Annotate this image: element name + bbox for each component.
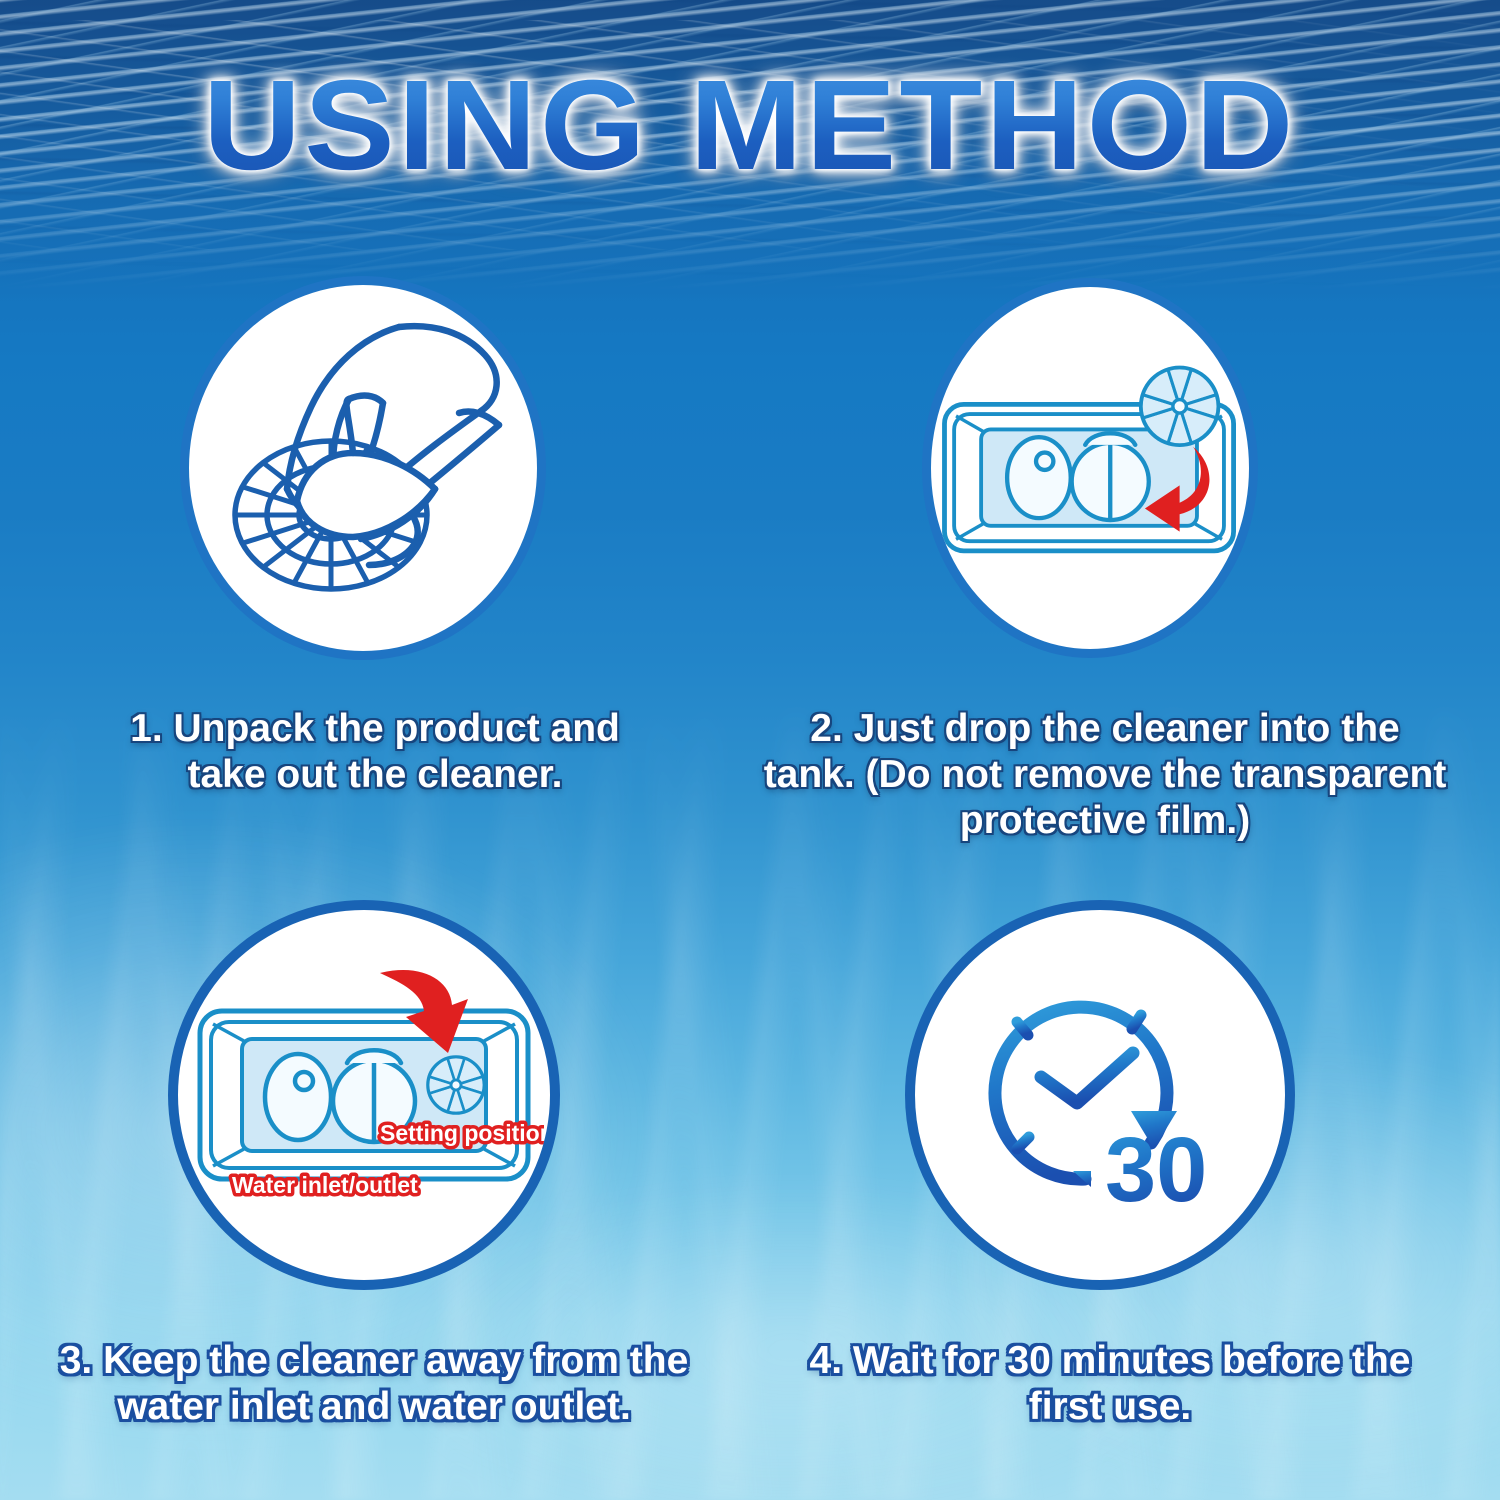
step-2-caption: 2. Just drop the cleaner into the tank. … bbox=[760, 706, 1450, 844]
step-1-illustration-circle bbox=[180, 276, 546, 660]
steps-grid: 1. Unpack the product and take out the c… bbox=[0, 0, 1500, 1500]
clock-30-minutes-icon: 30 bbox=[955, 965, 1245, 1225]
infographic-page: USING METHOD bbox=[0, 0, 1500, 1500]
step-3-caption: 3. Keep the cleaner away from the water … bbox=[38, 1338, 710, 1430]
step-4-caption: 4. Wait for 30 minutes before the first … bbox=[800, 1338, 1420, 1430]
page-title-container: USING METHOD bbox=[0, 62, 1500, 190]
step-2-illustration-circle bbox=[922, 278, 1258, 658]
step-4-illustration-circle: 30 bbox=[905, 900, 1295, 1290]
step-1-caption: 1. Unpack the product and take out the c… bbox=[90, 706, 660, 798]
water-inlet-outlet-label: Water inlet/outlet bbox=[232, 1172, 418, 1198]
cleaner-puck-pinwheel-icon bbox=[428, 1057, 484, 1113]
hand-holding-cleaner-disc-icon bbox=[203, 303, 523, 633]
toilet-tank-placement-icon: Setting position Water inlet/outlet bbox=[184, 945, 544, 1245]
setting-position-label: Setting position bbox=[380, 1120, 544, 1146]
page-title: USING METHOD bbox=[203, 62, 1296, 190]
clock-minutes-value: 30 bbox=[1105, 1119, 1207, 1221]
toilet-tank-drop-cleaner-icon bbox=[931, 328, 1249, 608]
step-3-illustration-circle: Setting position Water inlet/outlet bbox=[168, 900, 560, 1290]
cleaner-puck-pinwheel-icon bbox=[1141, 368, 1218, 445]
